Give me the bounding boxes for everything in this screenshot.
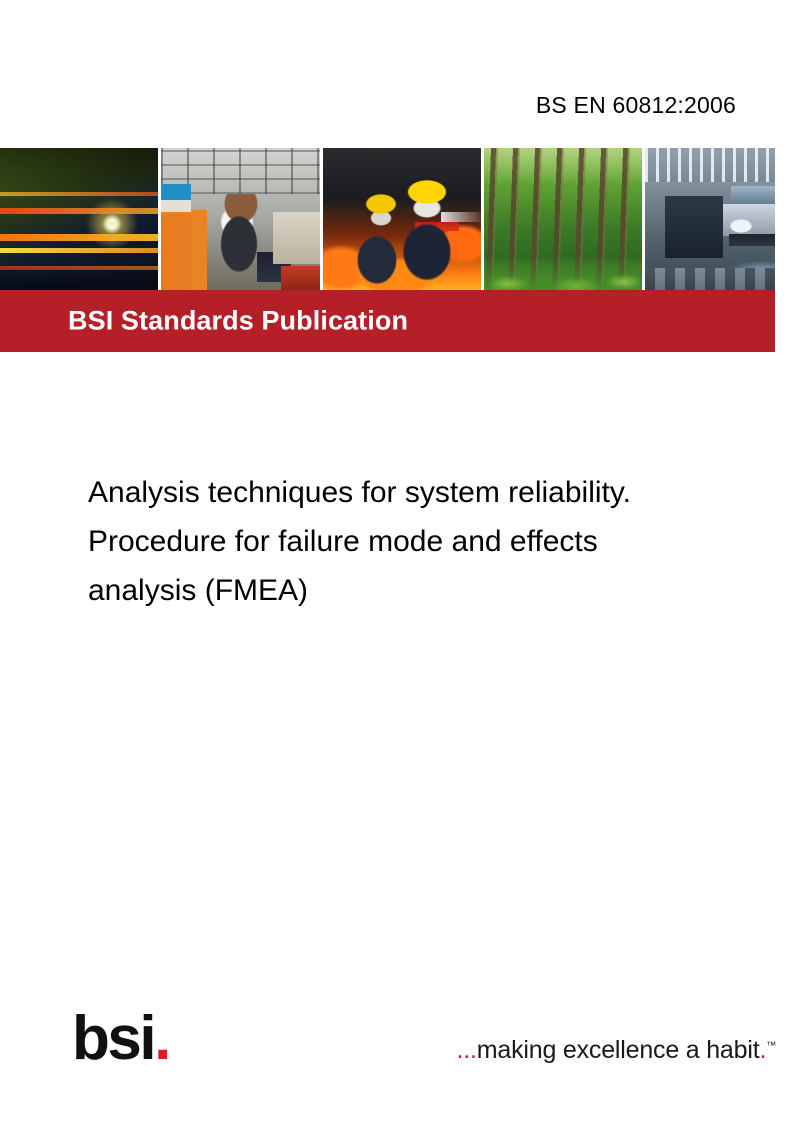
standard-number: BS EN 60812:2006 bbox=[536, 92, 736, 119]
car-assembly-photo bbox=[645, 148, 775, 290]
tagline-ellipsis: ... bbox=[457, 1036, 477, 1064]
firefighters-photo bbox=[323, 148, 481, 290]
light-trails-photo bbox=[0, 148, 158, 290]
bsi-logo-dot: . bbox=[154, 1004, 169, 1073]
title-line-3: analysis (FMEA) bbox=[88, 566, 718, 615]
bsi-logo-text: bsi bbox=[72, 1004, 154, 1073]
warehouse-worker-photo bbox=[161, 148, 320, 290]
bsi-standards-banner: BSI Standards Publication bbox=[0, 290, 775, 352]
forest-photo bbox=[484, 148, 642, 290]
banner-title: BSI Standards Publication bbox=[68, 306, 408, 337]
bsi-logo: bsi. bbox=[72, 1008, 169, 1070]
title-line-1: Analysis techniques for system reliabili… bbox=[88, 468, 718, 517]
photo-strip bbox=[0, 148, 775, 290]
tagline-text: making excellence a habit bbox=[477, 1036, 760, 1064]
page-title: Analysis techniques for system reliabili… bbox=[88, 468, 718, 615]
title-line-2: Procedure for failure mode and effects bbox=[88, 517, 718, 566]
trademark-icon: ™ bbox=[766, 1041, 776, 1052]
tagline: ...making excellence a habit.™ bbox=[457, 1036, 776, 1065]
cover-hero-band: BSI Standards Publication bbox=[0, 148, 775, 352]
